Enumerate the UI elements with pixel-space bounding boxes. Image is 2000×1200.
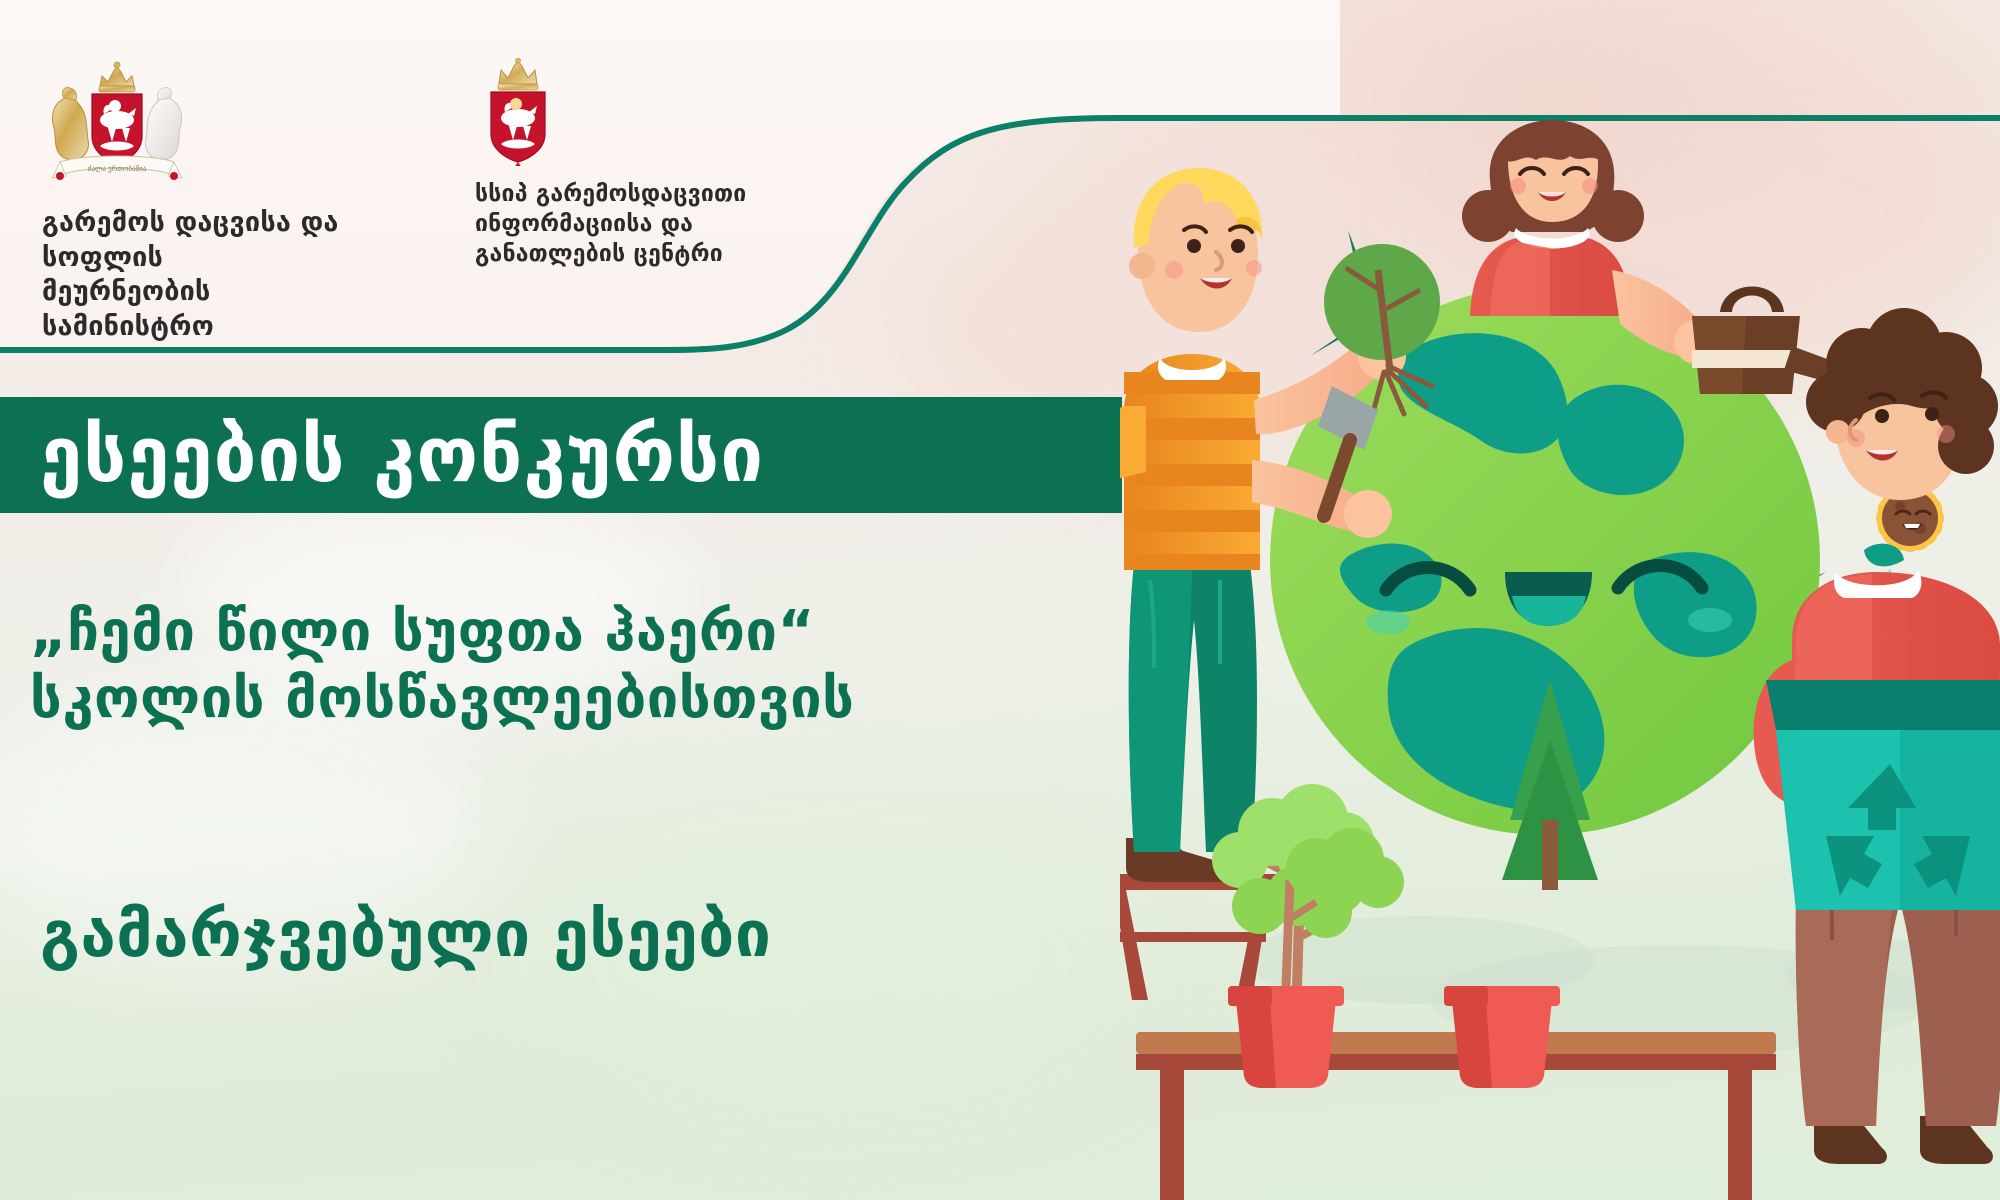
logo-center-line1: სსიპ გარემოსდაცვითი xyxy=(475,180,835,210)
poster-canvas: ძალა ერთობაშია გარემოს დაცვისა და სოფლის… xyxy=(0,0,2000,1200)
title-banner: ესეების კონკურსი xyxy=(0,397,1122,513)
subtitle-line2: სკოლის მოსწავლეებისთვის xyxy=(30,665,1210,732)
georgia-coat-of-arms-full-icon: ძალა ერთობაშია xyxy=(42,58,362,192)
wooden-table xyxy=(1136,1032,1776,1200)
logo-center-line3: განათლების ცენტრი xyxy=(475,240,835,270)
subtitle-block: „ჩემი წილი სუფთა ჰაერი“ სკოლის მოსწავლეე… xyxy=(30,598,1210,732)
logo-center: სსიპ გარემოსდაცვითი ინფორმაციისა და განა… xyxy=(475,58,835,270)
recycle-bin xyxy=(1766,680,2000,910)
logo-center-line2: ინფორმაციისა და xyxy=(475,210,835,240)
page-title: ესეების კონკურსი xyxy=(0,417,764,493)
logo-ministry-line2: მეურნეობის სამინისტრო xyxy=(42,275,362,344)
svg-text:ძალა ერთობაშია: ძალა ერთობაშია xyxy=(88,164,147,173)
illustration-earth-day-scene xyxy=(1120,120,2000,1200)
bottom-headline: გამარჯვებული ესეები xyxy=(40,900,1240,970)
georgia-shield-crest-icon xyxy=(479,58,835,170)
logo-ministry-line1: გარემოს დაცვისა და სოფლის xyxy=(42,206,362,275)
subtitle-line1: „ჩემი წილი სუფთა ჰაერი“ xyxy=(30,598,1210,665)
logo-ministry: ძალა ერთობაშია გარემოს დაცვისა და სოფლის… xyxy=(42,58,362,344)
potted-plant-right xyxy=(1444,986,1560,1088)
